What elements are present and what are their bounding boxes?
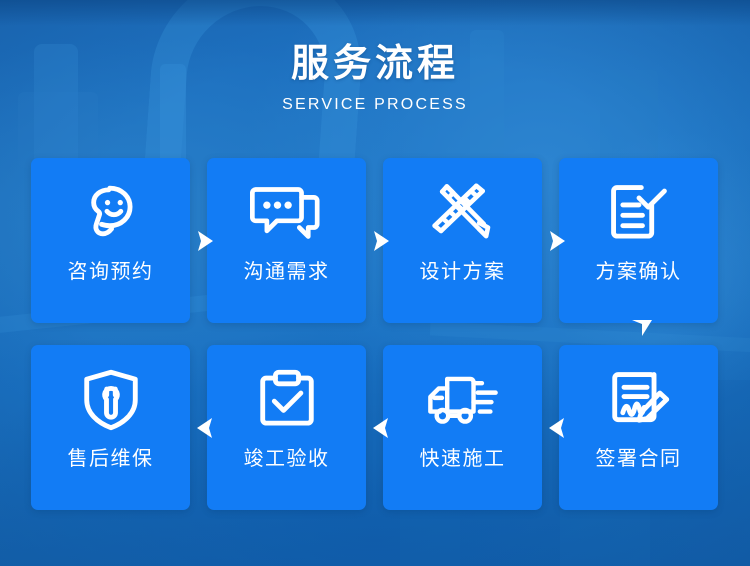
page-title: 服务流程 [0,42,750,87]
process-step-label: 快速施工 [420,449,506,469]
arrow-down-icon [631,319,653,337]
process-step-after-sales[interactable]: 售后维保 [31,345,190,510]
process-step-label: 竣工验收 [244,449,330,469]
arrow-right-icon [548,230,566,252]
process-step-label: 设计方案 [420,262,506,282]
arrow-right-icon [372,230,390,252]
clipboard-check-icon [207,345,366,449]
process-step-design[interactable]: 设计方案 [383,158,542,323]
fast-truck-icon [383,345,542,449]
process-step-label: 沟通需求 [244,262,330,282]
process-step-consultation[interactable]: 咨询预约 [31,158,190,323]
process-step-plan-confirm[interactable]: 方案确认 [559,158,718,323]
pencil-ruler-icon [383,158,542,262]
arrow-left-icon [372,417,390,439]
process-step-label: 咨询预约 [68,262,154,282]
process-step-acceptance[interactable]: 竣工验收 [207,345,366,510]
process-row-1: 咨询预约 沟通需求 [31,158,719,323]
chat-bubbles-icon [207,158,366,262]
process-step-label: 签署合同 [596,449,682,469]
process-step-label: 售后维保 [68,449,154,469]
shield-wrench-icon [31,345,190,449]
process-step-construction[interactable]: 快速施工 [383,345,542,510]
process-step-requirements[interactable]: 沟通需求 [207,158,366,323]
arrow-right-icon [196,230,214,252]
banner-header: 服务流程 SERVICE PROCESS [0,42,750,114]
arrow-left-icon [196,417,214,439]
process-row-2: 售后维保 竣工验收 [31,345,719,510]
phone-smiley-icon [31,158,190,262]
process-step-label: 方案确认 [596,262,682,282]
document-check-icon [559,158,718,262]
service-process-banner: 服务流程 SERVICE PROCESS 咨询预约 [0,0,750,566]
process-step-sign-contract[interactable]: 签署合同 [559,345,718,510]
contract-signature-icon [559,345,718,449]
background-top-shade [0,0,750,26]
page-subtitle: SERVICE PROCESS [0,96,750,114]
arrow-left-icon [548,417,566,439]
